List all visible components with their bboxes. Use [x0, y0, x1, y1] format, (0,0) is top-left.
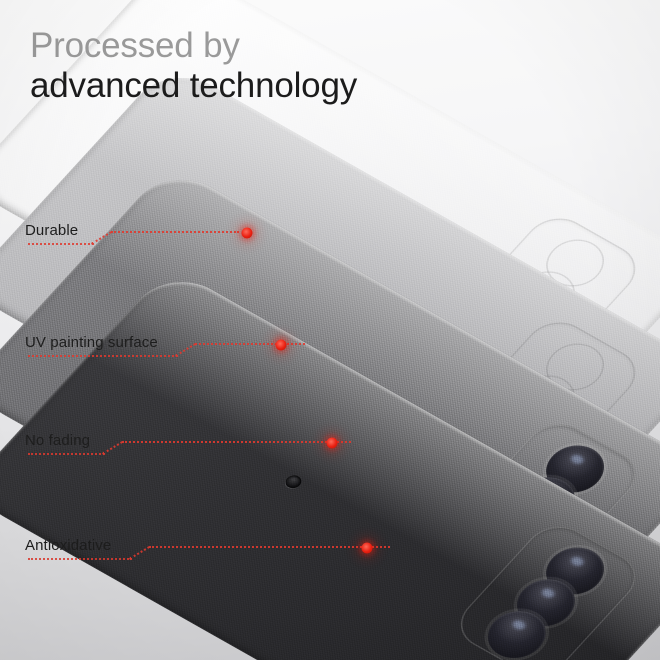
callout-label: Durable	[25, 222, 78, 239]
callout-underline	[28, 355, 178, 357]
lens-glint	[568, 555, 585, 568]
callout-uv-painting-surface: UV painting surface	[25, 333, 26, 357]
callout-label: Antioxidative	[25, 537, 111, 554]
headline-line-2: advanced technology	[30, 66, 357, 106]
callout-underline	[28, 243, 94, 245]
callout-antioxidative: Antioxidative	[25, 536, 26, 560]
headphone-port	[282, 473, 304, 490]
product-feature-graphic: Processed by advanced technology	[0, 0, 660, 660]
callout-leader-line	[149, 546, 390, 548]
headline-line-1: Processed by	[30, 26, 357, 66]
callout-underline	[28, 558, 132, 560]
callout-leader-line	[111, 231, 239, 233]
lens-glint	[568, 453, 585, 466]
lens-glint	[510, 619, 527, 632]
lens-glint	[539, 587, 556, 600]
callout-no-fading: No fading	[25, 431, 26, 455]
callout-leader-line	[122, 441, 351, 443]
camera-module	[447, 516, 648, 660]
page-title: Processed by advanced technology	[30, 26, 357, 106]
callout-leader-line	[195, 343, 305, 345]
callout-durable: Durable	[25, 221, 26, 245]
callout-label: No fading	[25, 432, 90, 449]
callout-label: UV painting surface	[25, 334, 158, 351]
callout-underline	[28, 453, 105, 455]
